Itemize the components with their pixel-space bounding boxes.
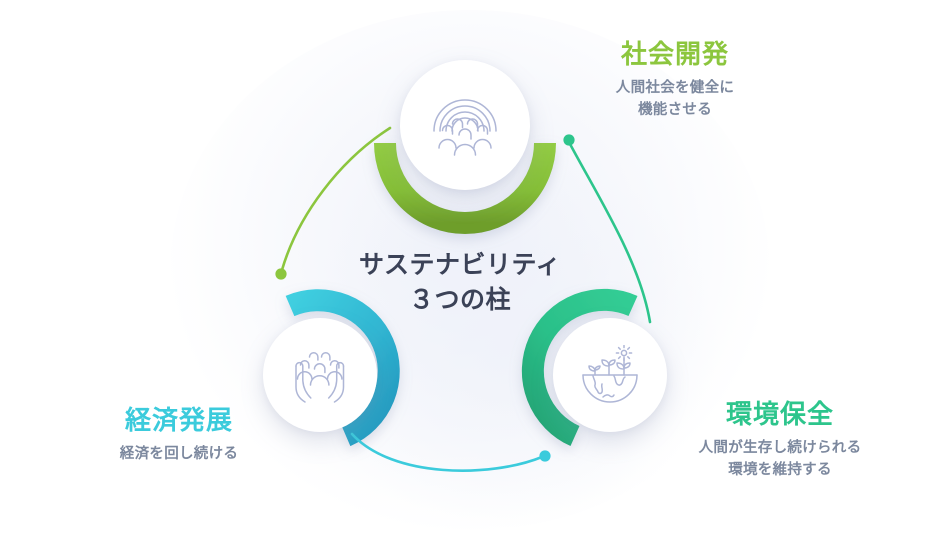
- label-social[interactable]: 社会開発 人間社会を健全に 機能させる: [560, 40, 790, 121]
- label-social-title: 社会開発: [560, 40, 790, 70]
- pillar-node-social[interactable]: [400, 60, 530, 190]
- label-environment-desc-line1: 人間が生存し続けられる: [660, 438, 900, 460]
- label-environment-desc-line2: 環境を維持する: [660, 460, 900, 482]
- connector-teal-dot: [563, 134, 574, 145]
- globe-with-plants-icon: [578, 345, 642, 405]
- label-economy-desc-line1: 経済を回し続ける: [68, 444, 290, 466]
- label-environment-desc: 人間が生存し続けられる 環境を維持する: [660, 438, 900, 482]
- connector-cyan-dot: [539, 450, 550, 461]
- center-title: サステナビリティ ３つの柱: [330, 248, 590, 317]
- label-economy[interactable]: 経済発展 経済を回し続ける: [68, 406, 290, 466]
- label-economy-desc: 経済を回し続ける: [68, 444, 290, 466]
- people-under-rainbow-icon: [428, 91, 502, 159]
- hands-holding-people-icon: [287, 344, 353, 406]
- label-social-desc: 人間社会を健全に 機能させる: [560, 78, 790, 122]
- connector-cyan: [352, 434, 542, 471]
- pillar-node-environment[interactable]: [553, 318, 667, 432]
- connector-green-dot: [275, 268, 286, 279]
- center-title-line1: サステナビリティ: [330, 248, 590, 283]
- label-environment[interactable]: 環境保全 人間が生存し続けられる 環境を維持する: [660, 400, 900, 481]
- sustainability-diagram: サステナビリティ ３つの柱 社会開発 人間社会を健全に 機能させる 環境保全 人…: [0, 0, 930, 535]
- center-title-line2: ３つの柱: [330, 283, 590, 318]
- label-environment-title: 環境保全: [660, 400, 900, 430]
- label-social-desc-line1: 人間社会を健全に: [560, 78, 790, 100]
- label-social-desc-line2: 機能させる: [560, 100, 790, 122]
- label-economy-title: 経済発展: [68, 406, 290, 436]
